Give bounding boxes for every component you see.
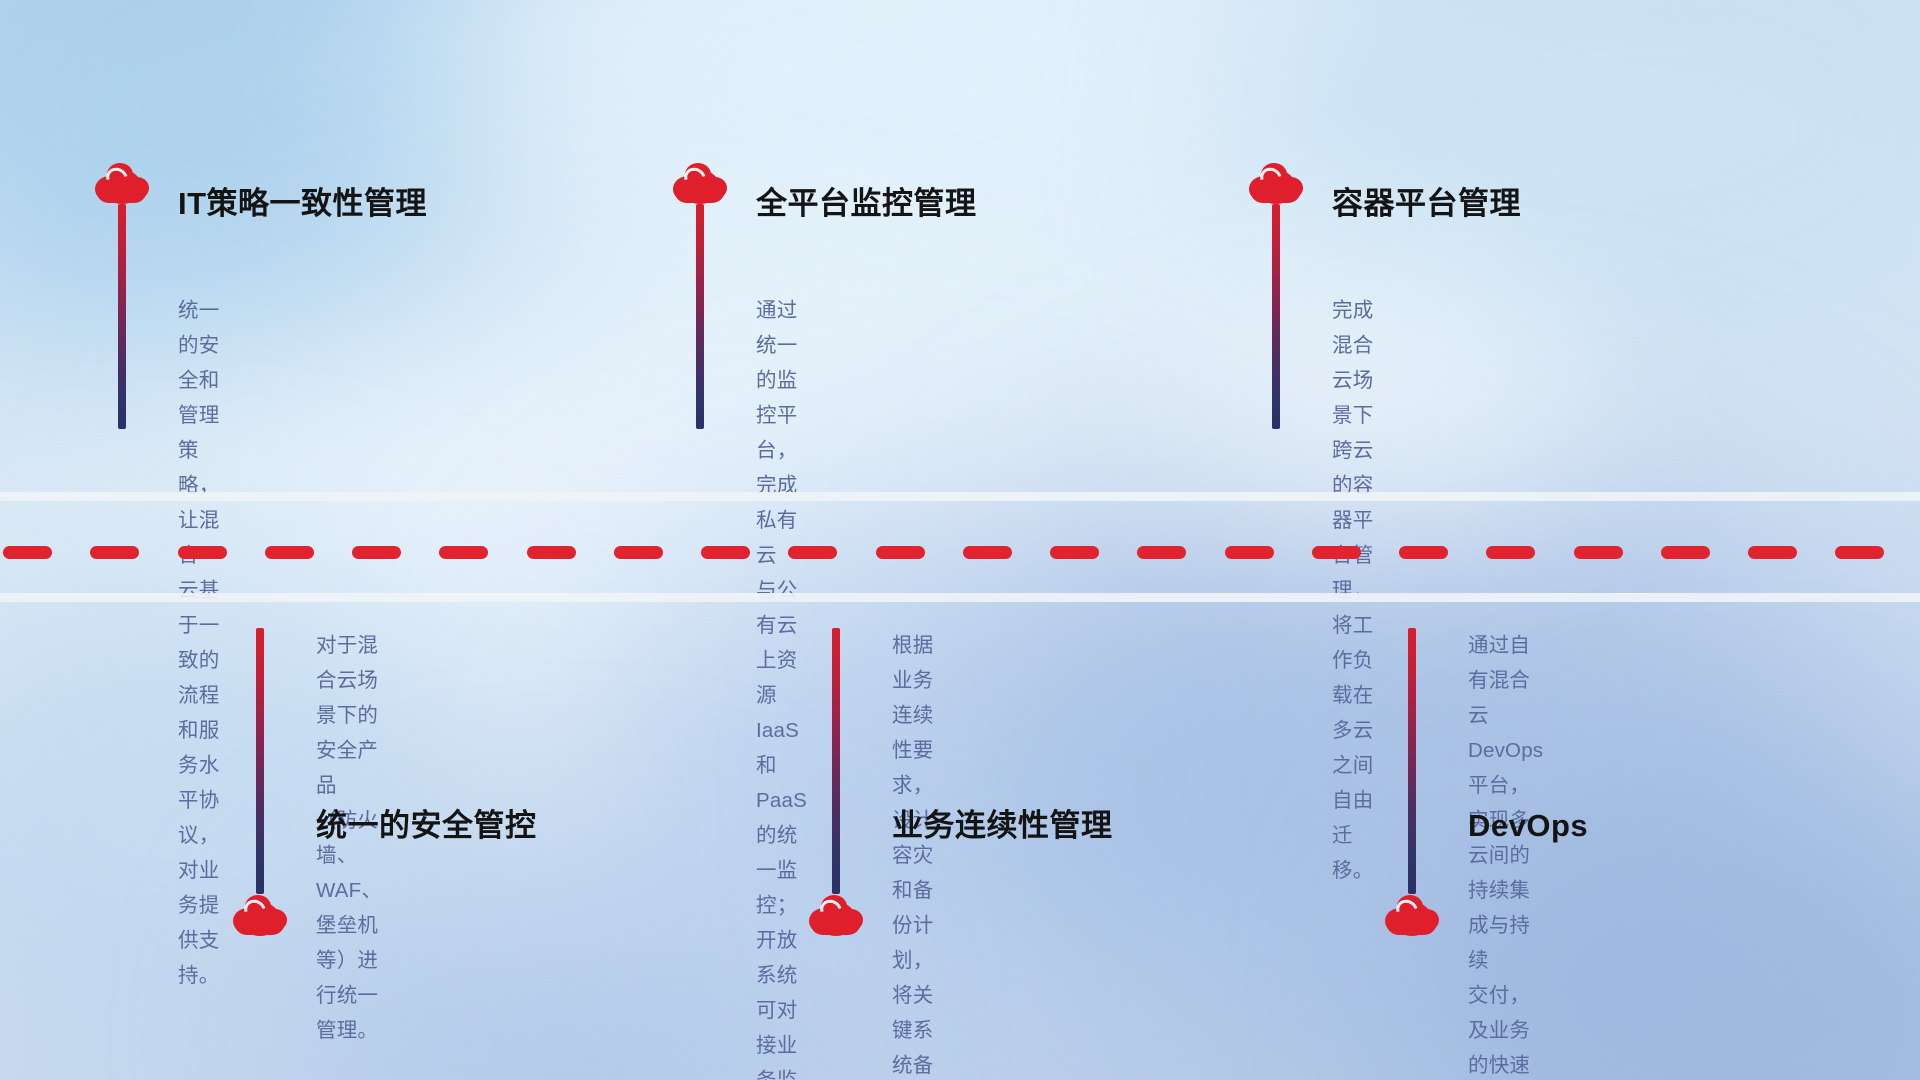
road-dash-row: [0, 546, 1920, 559]
road-dash: [963, 546, 1012, 559]
card-body: 通过自有混合云DevOps平台， 实现多云间的持续集成与持续 交付，及业务的快速…: [1468, 628, 1543, 1080]
infographic-canvas: IT策略一致性管理 统一的安全和管理策略，让混合 云基于一致的流程和服务水平协 …: [0, 0, 1920, 1080]
pin-stem: [1272, 204, 1280, 429]
cloud-icon: [1384, 894, 1440, 936]
card-body: 完成混合云场景下跨云的容器平 台管理，将工作负载在多云之间 自由迁移。: [1332, 293, 1373, 888]
road-dash: [1399, 546, 1448, 559]
card-title: 统一的安全管控: [316, 810, 537, 841]
cloud-pin-icon: [232, 894, 292, 936]
cloud-icon: [808, 894, 864, 936]
road-dash: [352, 546, 401, 559]
pin-stem up: [1408, 628, 1416, 894]
road-dash: [1312, 546, 1361, 559]
road-dash: [439, 546, 488, 559]
road-dash: [178, 546, 227, 559]
card-title: IT策略一致性管理: [178, 188, 427, 219]
road-dash: [527, 546, 576, 559]
road-dash: [1661, 546, 1710, 559]
card-title: 容器平台管理: [1332, 188, 1521, 219]
road-dash: [701, 546, 750, 559]
cloud-pin-icon: [1384, 894, 1444, 936]
road-dash: [614, 546, 663, 559]
cloud-icon: [672, 162, 728, 204]
road-dash: [90, 546, 139, 559]
cloud-pin-icon: [808, 894, 868, 936]
road-line-top: [0, 492, 1920, 501]
cloud-icon: [232, 894, 288, 936]
card-body: 根据业务连续性要求，设计容灾 和备份计划，将关键系统备份至 线上/线下，并定期校…: [892, 628, 933, 1080]
road-dash: [876, 546, 925, 559]
cloud-pin-icon: [672, 162, 732, 204]
road-dash: [788, 546, 837, 559]
road-dash: [3, 546, 52, 559]
pin-stem: [696, 204, 704, 429]
road-dash: [1225, 546, 1274, 559]
pin-stem: [118, 204, 126, 429]
cloud-icon: [94, 162, 150, 204]
card-title: 业务连续性管理: [892, 810, 1113, 841]
road-dash: [1050, 546, 1099, 559]
road-line-bottom: [0, 593, 1920, 602]
road-dash: [1486, 546, 1535, 559]
road-dash: [1748, 546, 1797, 559]
road-dash: [1137, 546, 1186, 559]
road-dash: [265, 546, 314, 559]
pin-stem up: [832, 628, 840, 894]
card-body: 统一的安全和管理策略，让混合 云基于一致的流程和服务水平协 议，对业务提供支持。: [178, 293, 219, 993]
road-dash: [1574, 546, 1623, 559]
cloud-pin-icon: [94, 162, 154, 204]
pin-stem up: [256, 628, 264, 894]
cloud-pin-icon: [1248, 162, 1308, 204]
card-title: DevOps: [1468, 810, 1588, 841]
cloud-icon: [1248, 162, 1304, 204]
road-dash: [1835, 546, 1884, 559]
card-body: 通过统一的监控平台，完成私有云 与公有云上资源IaaS和PaaS的统 一监控；开…: [756, 293, 807, 1080]
card-title: 全平台监控管理: [756, 188, 977, 219]
